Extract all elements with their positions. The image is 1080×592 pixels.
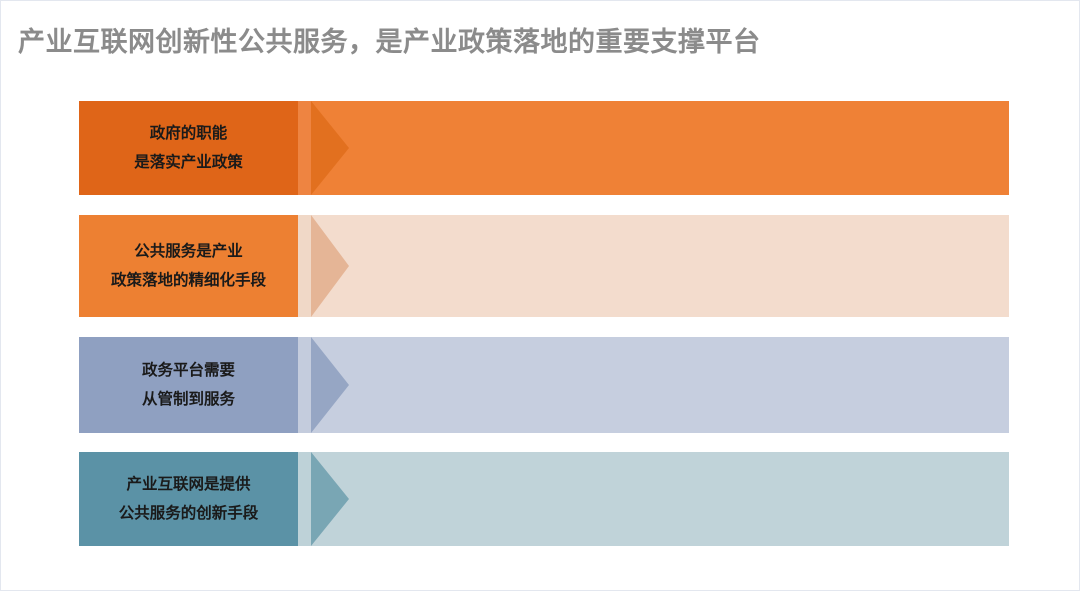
row-label-box[interactable]: 公共服务是产业 政策落地的精细化手段: [79, 215, 298, 317]
row-label-text: 公共服务是产业 政策落地的精细化手段: [111, 237, 266, 294]
arrow-right-icon: [311, 101, 349, 195]
row-label-box[interactable]: 政府的职能 是落实产业政策: [79, 101, 298, 195]
arrow-right-icon: [311, 452, 349, 546]
process-row: 政务平台需要 从管制到服务 很多地方已经开始提供公共政务平台，但是政务管理系统和…: [79, 337, 1009, 433]
row-body-background: [311, 101, 1009, 195]
row-body-background: [311, 337, 1009, 433]
arrow-right-icon: [311, 337, 349, 433]
row-shoulder: [298, 337, 311, 433]
row-body-background: [311, 452, 1009, 546]
row-shoulder: [298, 101, 311, 195]
row-body-background: [311, 215, 1009, 317]
row-label-text: 政府的职能 是落实产业政策: [134, 119, 243, 176]
process-row: 公共服务是产业 政策落地的精细化手段 政府落实产业政策的手段除了传统的调控杠杆以…: [79, 215, 1009, 317]
row-shoulder: [298, 452, 311, 546]
process-row: 产业互联网是提供 公共服务的创新手段 产业互联网希望在一个共享的平台上完成企业经…: [79, 452, 1009, 546]
row-shoulder: [298, 215, 311, 317]
row-label-box[interactable]: 政务平台需要 从管制到服务: [79, 337, 298, 433]
process-row-list: 政府的职能 是落实产业政策 政府的职能是利用产业政策进行产业孵化，推动企业成长。…: [1, 1, 1080, 592]
row-label-text: 政务平台需要 从管制到服务: [142, 356, 235, 413]
process-row: 政府的职能 是落实产业政策 政府的职能是利用产业政策进行产业孵化，推动企业成长。…: [79, 101, 1009, 195]
row-label-text: 产业互联网是提供 公共服务的创新手段: [119, 470, 259, 527]
row-label-box[interactable]: 产业互联网是提供 公共服务的创新手段: [79, 452, 298, 546]
slide-canvas: 产业互联网创新性公共服务，是产业政策落地的重要支撑平台 政府的职能 是落实产业政…: [0, 0, 1080, 591]
arrow-right-icon: [311, 215, 349, 317]
